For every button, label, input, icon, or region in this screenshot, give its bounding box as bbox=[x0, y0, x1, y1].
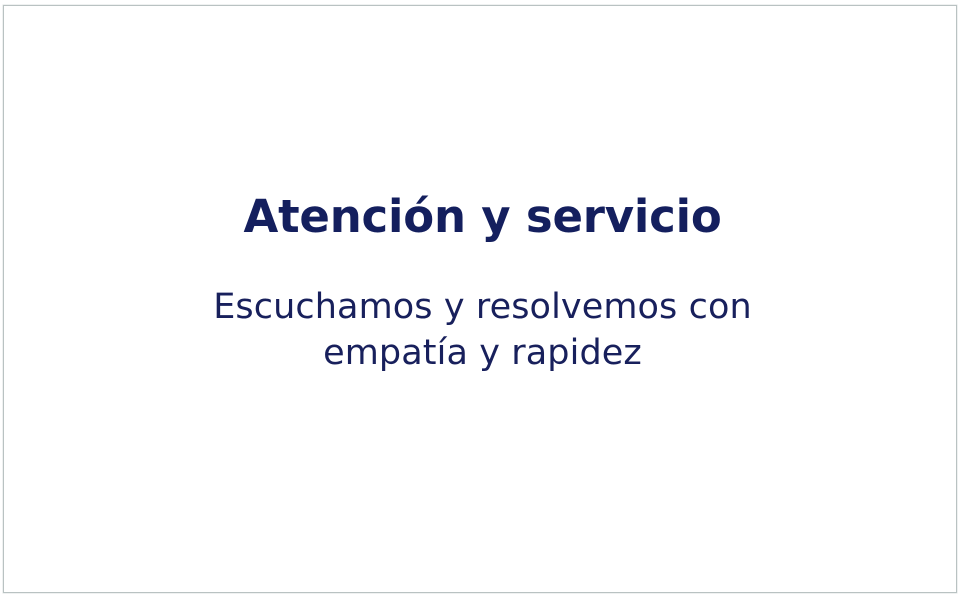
slide-content: Atención y servicio Escuchamos y resolve… bbox=[0, 0, 965, 603]
slide-title: Atención y servicio bbox=[243, 192, 721, 242]
slide-subtitle: Escuchamos y resolvemos con empatía y ra… bbox=[163, 285, 803, 376]
slide-canvas: Atención y servicio Escuchamos y resolve… bbox=[0, 0, 965, 603]
